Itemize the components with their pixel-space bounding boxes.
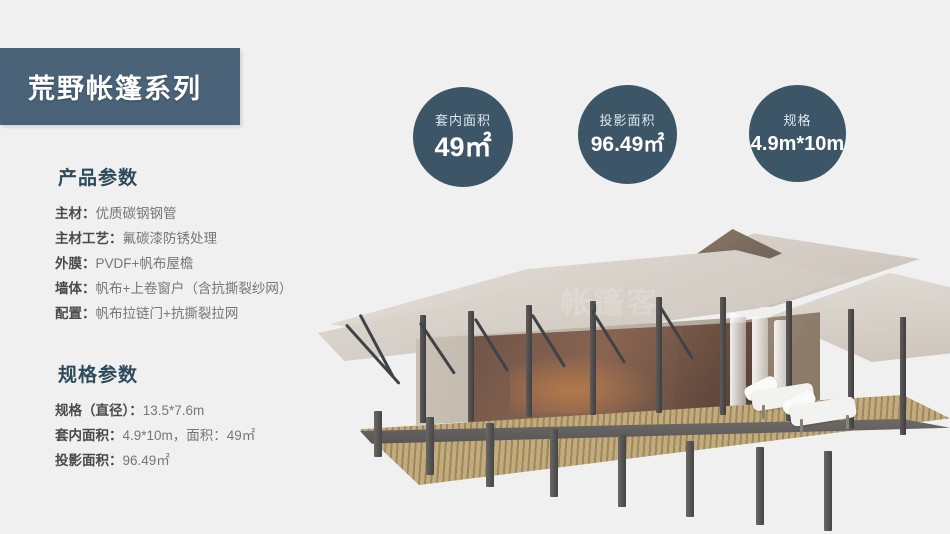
lounge-chair-leg bbox=[800, 419, 803, 433]
product-spec-page: 荒野帐篷系列 产品参数 主材：优质碳钢钢管 主材工艺：氟碳漆防锈处理 外膜：PV… bbox=[0, 0, 950, 534]
spec-value: 4.9*10m，面积：49㎡ bbox=[123, 428, 256, 443]
spec-key: 套内面积： bbox=[55, 428, 123, 443]
spec-value: 氟碳漆防锈处理 bbox=[123, 231, 218, 246]
stilt bbox=[686, 441, 694, 517]
lounge-chair-leg bbox=[762, 405, 765, 419]
stat-badge-projected-area: 投影面积 96.49㎡ bbox=[578, 85, 677, 184]
spec-value: PVDF+帆布屋檐 bbox=[96, 256, 194, 271]
spec-key: 投影面积： bbox=[55, 453, 123, 468]
product-params-heading: 产品参数 bbox=[58, 163, 365, 190]
curtain bbox=[730, 313, 746, 413]
stilt bbox=[486, 423, 494, 487]
spec-key: 主材： bbox=[55, 206, 96, 221]
spec-key: 外膜： bbox=[55, 256, 96, 271]
support-post bbox=[720, 297, 726, 415]
stat-badge-value: 4.9m*10m bbox=[751, 134, 844, 154]
tent-render-image: 帐篷客 bbox=[300, 205, 950, 534]
stat-badge-interior-area: 套内面积 49㎡ bbox=[413, 87, 513, 187]
stat-badge-value: 49㎡ bbox=[434, 134, 491, 161]
spec-key: 墙体： bbox=[55, 281, 96, 296]
page-title: 荒野帐篷系列 bbox=[28, 67, 202, 106]
spec-value: 13.5*7.6m bbox=[143, 403, 205, 418]
stat-badge-label: 规格 bbox=[783, 114, 811, 127]
spec-value: 帆布+上卷窗户（含抗撕裂纱网） bbox=[96, 281, 293, 296]
stilt bbox=[824, 451, 832, 531]
lounge-chair-leg bbox=[846, 415, 849, 429]
stilt bbox=[426, 417, 434, 475]
stilt bbox=[756, 447, 764, 525]
spec-value: 优质碳钢钢管 bbox=[96, 206, 177, 221]
title-banner: 荒野帐篷系列 bbox=[0, 48, 240, 125]
stilt bbox=[618, 435, 626, 507]
spec-key: 配置： bbox=[55, 306, 96, 321]
stilt bbox=[374, 411, 382, 457]
stat-badge-value: 96.49㎡ bbox=[591, 134, 665, 155]
spec-value: 帆布拉链门+抗撕裂拉网 bbox=[96, 306, 239, 321]
support-post bbox=[468, 311, 474, 421]
stilt bbox=[550, 429, 558, 497]
spec-key: 主材工艺： bbox=[55, 231, 123, 246]
support-post bbox=[526, 305, 532, 417]
stat-badge-dimensions: 规格 4.9m*10m bbox=[749, 85, 846, 182]
spec-value: 96.49㎡ bbox=[123, 453, 170, 468]
spec-key: 规格（直径）： bbox=[55, 403, 143, 418]
support-post bbox=[900, 317, 906, 435]
stat-badge-label: 投影面积 bbox=[599, 114, 655, 127]
stat-badge-label: 套内面积 bbox=[435, 114, 491, 127]
support-post bbox=[656, 297, 662, 413]
interior-light-glow bbox=[510, 355, 660, 413]
